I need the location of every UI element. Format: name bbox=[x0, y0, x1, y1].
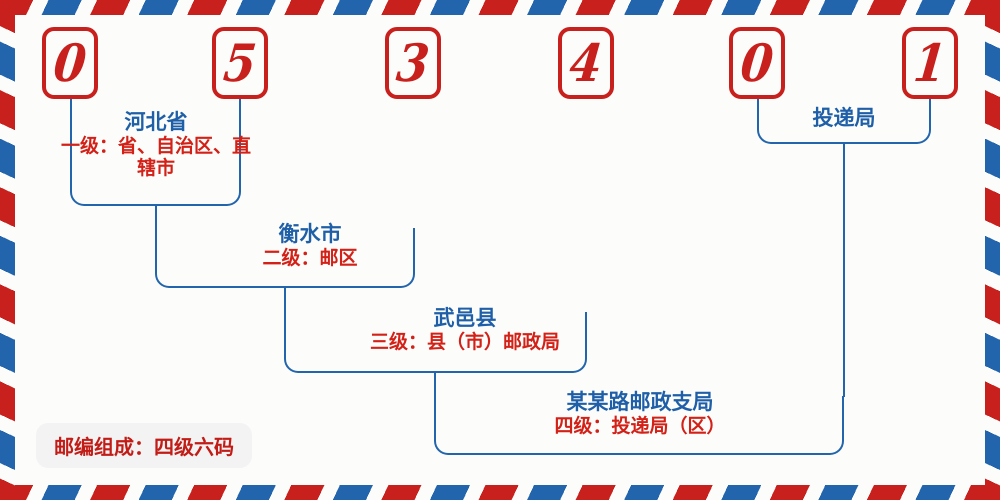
digit-glyph-2: 5 bbox=[221, 37, 258, 89]
digit-glyph-4: 4 bbox=[567, 37, 604, 89]
digit-box-3: 3 bbox=[385, 27, 441, 99]
caption-level-1-sub: 一级：省、自治区、直辖市 bbox=[60, 136, 252, 180]
caption-level-4-sub: 四级：投递局（区） bbox=[450, 416, 830, 438]
stem-level-3-to-4 bbox=[434, 372, 436, 397]
digit-glyph-3: 3 bbox=[394, 37, 431, 89]
airmail-border-top bbox=[0, 0, 1000, 15]
digit-glyph-6: 1 bbox=[911, 37, 948, 89]
airmail-border-bottom bbox=[0, 485, 1000, 500]
caption-level-1-title: 河北省 bbox=[60, 110, 252, 134]
envelope-postcode-diagram: 0 5 3 4 0 1 河北省 一级：省、自治区、直辖市 衡水市 二级：邮区 武… bbox=[0, 0, 1000, 500]
caption-level-2-sub: 二级：邮区 bbox=[180, 248, 440, 270]
caption-level-2: 衡水市 二级：邮区 bbox=[180, 222, 440, 270]
airmail-border-left bbox=[0, 0, 15, 500]
airmail-border-right bbox=[985, 0, 1000, 500]
caption-delivery-office-title: 投递局 bbox=[757, 106, 931, 130]
stem-level-1-to-2 bbox=[155, 205, 157, 229]
stem-delivery-office-to-level-4 bbox=[843, 143, 845, 397]
digit-box-6: 1 bbox=[902, 27, 958, 99]
digit-box-4: 4 bbox=[558, 27, 614, 99]
digit-box-1: 0 bbox=[42, 27, 98, 99]
stem-level-2-to-3 bbox=[284, 287, 286, 313]
caption-level-2-title: 衡水市 bbox=[180, 222, 440, 246]
digit-box-2: 5 bbox=[212, 27, 268, 99]
caption-level-3: 武邑县 三级：县（市）邮政局 bbox=[300, 306, 630, 354]
footer-badge: 邮编组成：四级六码 bbox=[36, 423, 252, 468]
caption-level-3-sub: 三级：县（市）邮政局 bbox=[300, 332, 630, 354]
caption-level-3-title: 武邑县 bbox=[300, 306, 630, 330]
digit-glyph-5: 0 bbox=[738, 37, 775, 89]
caption-level-4: 某某路邮政支局 四级：投递局（区） bbox=[450, 390, 830, 438]
digit-box-5: 0 bbox=[729, 27, 785, 99]
digit-glyph-1: 0 bbox=[51, 37, 88, 89]
caption-level-4-title: 某某路邮政支局 bbox=[450, 390, 830, 414]
caption-level-1: 河北省 一级：省、自治区、直辖市 bbox=[60, 110, 252, 180]
caption-delivery-office: 投递局 bbox=[757, 106, 931, 130]
